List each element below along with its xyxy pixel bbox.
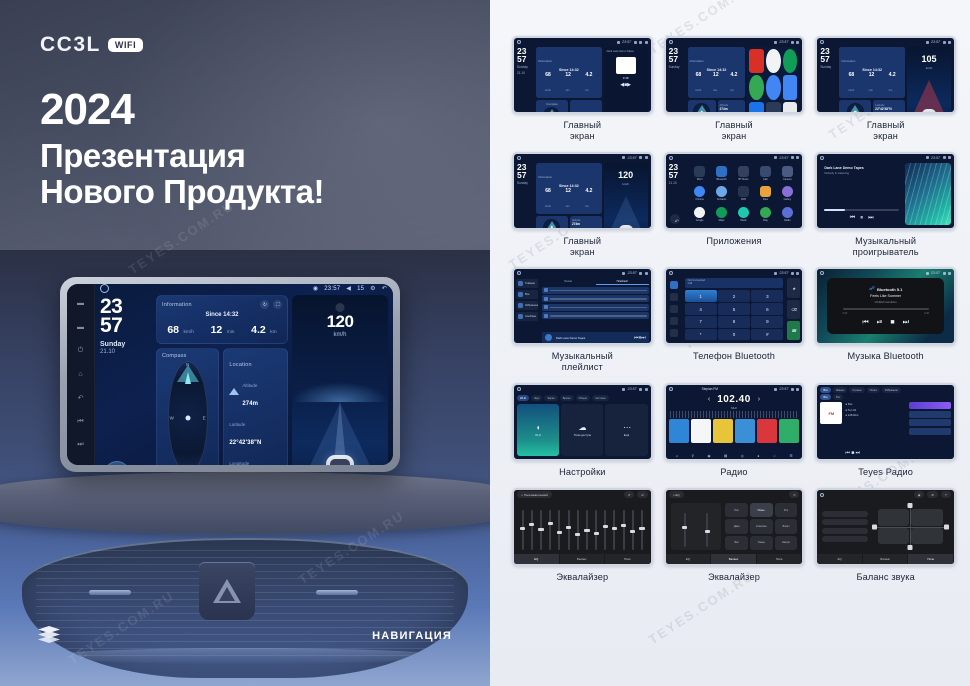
settings-card-hotspot[interactable]: ☁ Точка доступа <box>561 404 603 456</box>
sidebar-item-main[interactable]: Главная <box>516 279 538 288</box>
mini-day: Sunday <box>669 65 686 69</box>
band-fader[interactable] <box>568 510 570 550</box>
balance-pad[interactable] <box>872 503 949 550</box>
band-fader[interactable] <box>632 510 634 550</box>
tab-genres[interactable]: Жанры <box>833 387 848 393</box>
preset-bass[interactable]: Бас <box>725 536 748 550</box>
tab-countries[interactable]: Страны <box>849 387 864 393</box>
app-icon-play[interactable] <box>749 102 764 114</box>
balance-presets[interactable] <box>822 503 868 550</box>
app-tile-maps[interactable]: Maps <box>712 204 732 223</box>
preset-2[interactable] <box>691 419 712 443</box>
mini-screen: Все Жанры Страны Поиск Избранное Все Топ… <box>817 385 954 459</box>
stat-value: 68 <box>849 73 855 78</box>
thumbnail-caption: Главный экран <box>563 120 601 142</box>
call-icon[interactable]: ☎ <box>787 321 800 340</box>
toolbar-icons[interactable]: ↺ <box>789 491 799 498</box>
preset-rock[interactable]: Рок <box>775 503 798 517</box>
equalizer-toolbar[interactable]: ♫ Пользовательский ↺ ☑ <box>514 490 651 499</box>
app-tile-camera[interactable]: Camera <box>777 164 797 183</box>
key-3[interactable]: 3 <box>751 290 783 301</box>
app-tile-calculator[interactable]: Calc <box>755 164 775 183</box>
tab-general[interactable]: Общие <box>576 395 591 401</box>
preset-pop[interactable]: Поп <box>725 503 748 517</box>
player-controls[interactable]: ⏮ ⏸ ⏭ <box>824 215 899 222</box>
fader-knob[interactable] <box>584 529 589 532</box>
prev-station-icon[interactable]: ‹ <box>708 396 710 403</box>
fader-knob[interactable] <box>705 530 710 533</box>
refresh-icon[interactable]: ↻ <box>260 300 269 309</box>
equalizer-toolbar[interactable]: ♫ EQ ↺ <box>666 490 803 499</box>
key-0[interactable]: 0 <box>718 329 750 340</box>
volume-down-button[interactable]: ▬ <box>75 299 86 308</box>
app-icon-drawer[interactable] <box>783 102 798 114</box>
app-tile-playstore[interactable]: Play <box>755 204 775 223</box>
gear-icon[interactable]: ⚙ <box>370 285 376 292</box>
gallery-item[interactable]: 23:57 23 57 Sunday <box>512 152 653 258</box>
app-tile-files[interactable]: Files <box>755 184 775 203</box>
app-icon-maps[interactable] <box>783 49 798 73</box>
mini-status-bar: 23:57 <box>666 38 803 46</box>
thumbnail-home-media[interactable]: 23:57 23 57 Sunday 21.10 <box>512 36 653 114</box>
radio-tuner[interactable]: ‹ 102.40 › <box>666 393 803 406</box>
tab-balance[interactable]: Баланс <box>560 554 606 564</box>
thumbnail-playlist[interactable]: 23:57 Главная Все Избранное Альбомы <box>512 267 653 345</box>
home-button[interactable]: ⌂ <box>75 370 86 379</box>
back-arrow-icon <box>948 272 951 275</box>
mini-status-bar: 23:57 <box>666 154 803 162</box>
thumbnail-teyes-radio[interactable]: Все Жанры Страны Поиск Избранное Все Топ… <box>815 383 956 461</box>
fav-icon[interactable]: ☆ <box>773 454 776 458</box>
gallery-item[interactable]: ♫ EQ ↺ Поп Польз. Рок <box>664 488 805 583</box>
dialer-sidebar[interactable] <box>668 277 681 341</box>
tab-display[interactable]: Экран <box>544 395 557 401</box>
fader-knob[interactable] <box>520 527 525 530</box>
dial-pad[interactable]: 1 2 3 4 5 6 7 8 9 * <box>685 290 784 340</box>
tab-field[interactable]: Поле <box>605 554 651 564</box>
band-fader[interactable] <box>595 510 597 550</box>
progress-bar[interactable] <box>824 209 899 211</box>
tab-eq[interactable]: EQ <box>817 554 863 564</box>
key-2[interactable]: 2 <box>718 290 750 301</box>
pad-axis-vertical <box>910 503 911 550</box>
navigation-fab-button[interactable] <box>104 461 130 465</box>
app-icon-files[interactable] <box>766 102 781 114</box>
rds-icon[interactable]: ◎ <box>741 454 744 458</box>
app-tile-btmusic[interactable]: BT Music <box>734 164 754 183</box>
stat-value: 68 <box>696 73 702 78</box>
key-4[interactable]: 4 <box>685 303 717 314</box>
app-tile-google[interactable]: Google <box>690 204 710 223</box>
search-icon[interactable]: ⚲ <box>691 454 694 458</box>
band-fader[interactable] <box>623 510 625 550</box>
recents-icon[interactable] <box>670 293 678 301</box>
album-art: FM <box>820 402 842 424</box>
preset-rear[interactable] <box>822 528 868 534</box>
tab-eq[interactable]: EQ <box>514 554 560 564</box>
list-item[interactable] <box>909 411 951 418</box>
media-controls[interactable]: ◀■▶ <box>620 82 631 88</box>
thumbnail-player[interactable]: 23:57 Dark Lane Demo Tapes Nobody Is Lis… <box>815 152 956 230</box>
band-fader[interactable] <box>684 513 686 547</box>
tab-balance[interactable]: Баланс <box>863 554 909 564</box>
expand-icon[interactable]: ⛶ <box>273 300 282 309</box>
key-8[interactable]: 8 <box>718 316 750 327</box>
next-icon[interactable]: ⏭ <box>903 319 909 327</box>
home-icon[interactable] <box>820 493 824 497</box>
list-item[interactable] <box>542 295 649 302</box>
loc-icon[interactable]: ● <box>757 454 759 458</box>
preset-driver[interactable] <box>822 511 868 517</box>
app-icon-mail[interactable] <box>783 75 798 99</box>
band-fader[interactable] <box>577 510 579 550</box>
previous-icon[interactable]: ⏮ <box>862 319 868 327</box>
playlist-sidebar[interactable]: Главная Все Избранное Альбомы <box>514 277 540 343</box>
back-arrow-icon[interactable]: ↶ <box>941 491 951 498</box>
hazard-light-button[interactable] <box>199 562 255 620</box>
key-6[interactable]: 6 <box>751 303 783 314</box>
mini-status-right: 23:57 <box>774 40 800 44</box>
volume-up-button[interactable]: ▬ <box>75 323 86 332</box>
gallery-item[interactable]: ◉ ⚙ ↶ <box>815 488 956 583</box>
list-item[interactable] <box>542 312 649 319</box>
tab-sound[interactable]: Звук <box>531 395 542 401</box>
gallery-item[interactable]: 23:57 Главная Все Избранное Альбомы <box>512 267 653 373</box>
preset-classic[interactable]: Классика <box>750 519 773 533</box>
fader-knob[interactable] <box>594 532 599 535</box>
tab-favorites[interactable]: Избранное <box>882 387 901 393</box>
fader-knob[interactable] <box>575 533 580 536</box>
preset-3[interactable] <box>713 419 734 443</box>
search-icon[interactable] <box>670 305 678 313</box>
back-arrow-icon <box>796 41 799 44</box>
stat-unit: min <box>713 89 717 92</box>
player-controls[interactable]: ⏮ ■ ⏭ <box>845 450 906 456</box>
wifi-icon <box>926 41 929 44</box>
list-item[interactable] <box>542 304 649 311</box>
teyes-radio-subtabs[interactable]: Все Топ <box>817 394 954 401</box>
thumbnail-dialer[interactable]: 23:57 <box>664 267 805 345</box>
gallery-item[interactable]: 23:57 <box>664 267 805 373</box>
fader-knob[interactable] <box>612 527 617 530</box>
preset-grid[interactable]: Поп Польз. Рок Джаз Классика Вокал Бас Т… <box>725 503 797 550</box>
speaker-front-left[interactable] <box>878 509 910 526</box>
gallery-item[interactable]: 23:57 Wi-Fi Звук Экран Время Общие Систе… <box>512 383 653 478</box>
speaker-rear-left[interactable] <box>878 528 910 545</box>
now-playing-bar[interactable]: Dark Lane Demo Tapes ⏮⏸⏭ <box>542 332 649 343</box>
home-icon <box>669 271 673 275</box>
mini-status-right: 23:57 <box>774 387 800 391</box>
band-fader[interactable] <box>558 510 560 550</box>
player-controls[interactable]: ⏮⏸⏭ <box>634 335 646 341</box>
frequency-scale[interactable] <box>670 411 799 418</box>
radio-toolbar[interactable]: ♫ ⚲ ◉ ▤ ◎ ● ☆ ☰ <box>666 452 803 459</box>
thumbnail-radio[interactable]: Stepian FM 23:57 ‹ 102.40 › <box>664 383 805 461</box>
key-5[interactable]: 5 <box>718 303 750 314</box>
tab-field[interactable]: Поле <box>908 554 954 564</box>
back-button[interactable]: ↶ <box>670 214 680 224</box>
sidebar-label: Избранное <box>525 304 538 307</box>
preset-6[interactable] <box>779 419 800 443</box>
list-item[interactable] <box>542 287 649 294</box>
thumbnail-equalizer-presets[interactable]: ♫ EQ ↺ Поп Польз. Рок <box>664 488 805 566</box>
pad-knob-right[interactable] <box>944 524 949 529</box>
next-icon[interactable]: ⏭ <box>868 215 873 222</box>
settings-tabs[interactable]: Wi-Fi Звук Экран Время Общие Система <box>514 393 651 403</box>
balance-bottom-tabs[interactable]: EQ Баланс Поле <box>817 554 954 564</box>
reset-icon[interactable]: ↺ <box>789 491 799 498</box>
play-pause-icon[interactable]: ⏯ <box>877 319 883 327</box>
gear-icon <box>639 41 642 44</box>
gallery-item[interactable]: 23:57 23 57 Sunday 21.10 <box>512 36 653 142</box>
stat-unit: km <box>585 205 588 208</box>
preset-country[interactable]: Кантри <box>775 536 798 550</box>
gear-icon <box>639 156 642 159</box>
caption-line1: Главный <box>563 236 601 246</box>
app-tile-gallery[interactable]: Gallery <box>777 184 797 203</box>
teyes-radio-tabs[interactable]: Все Жанры Страны Поиск Избранное <box>817 385 954 394</box>
band-fader[interactable] <box>549 510 551 550</box>
player-controls[interactable]: ⏮ ⏯ ■ ⏭ <box>862 319 908 327</box>
settings-card-wifi[interactable]: ◖ Wi-Fi <box>517 404 559 456</box>
fader-knob[interactable] <box>566 526 571 529</box>
list-icon <box>518 281 523 286</box>
fader-knob[interactable] <box>682 526 687 529</box>
thumbnail-balance[interactable]: ◉ ⚙ ↶ <box>815 488 956 566</box>
previous-icon[interactable]: ⏮ <box>850 215 855 222</box>
station-list[interactable] <box>909 402 951 456</box>
preset-dance[interactable]: Танцы <box>750 536 773 550</box>
information-title: Information <box>538 175 552 179</box>
teyes-radio-body: FM ● Рок ● Топ 10 ● 128 kb/s ⏮ ■ ⏭ <box>817 401 954 459</box>
app-icon-chrome[interactable] <box>766 75 781 99</box>
band-icon[interactable]: ♫ <box>675 454 678 458</box>
star-icon[interactable]: ★ <box>787 278 800 297</box>
thumbnail-settings[interactable]: 23:57 Wi-Fi Звук Экран Время Общие Систе… <box>512 383 653 461</box>
tab-all[interactable]: Все <box>820 387 830 393</box>
home-icon <box>820 156 824 160</box>
settings-icon[interactable] <box>670 329 678 337</box>
gallery-item[interactable]: 23:57 Dark Lane Demo Tapes Nobody Is Lis… <box>815 152 956 258</box>
thumbnail-apps[interactable]: 23:57 23 57 21.10 ↶ <box>664 152 805 230</box>
save-icon[interactable]: ☑ <box>637 491 648 498</box>
gallery-item[interactable]: 23:57 23 57 21.10 ↶ <box>664 152 805 258</box>
app-tile-contacts[interactable]: Contacts <box>712 184 732 203</box>
balance-toolbar[interactable]: ◉ ⚙ ↶ <box>817 490 954 499</box>
stat-value: 68 <box>167 324 179 336</box>
sidebar-item-all[interactable]: Все <box>516 290 538 299</box>
mini-status-bar: Stepian FM 23:57 <box>666 385 803 393</box>
thumbnail-home-apps[interactable]: 23:57 23 57 Sunday <box>664 36 805 114</box>
information-card: Information Since 14:32 68km/h 12min 4.2… <box>839 47 905 98</box>
settings-cards[interactable]: ◖ Wi-Fi ☁ Точка доступа ⋯ Ещё <box>514 403 651 459</box>
preset-jazz[interactable]: Джаз <box>725 519 748 533</box>
list-item[interactable] <box>909 419 951 426</box>
band-fader[interactable] <box>531 510 533 550</box>
pad-knob-bottom[interactable] <box>908 545 913 550</box>
tab-eq[interactable]: EQ <box>666 554 712 564</box>
tab-field[interactable]: Поле <box>757 554 803 564</box>
gear-icon[interactable]: ⚙ <box>927 491 938 498</box>
equalizer-bottom-tabs[interactable]: EQ Баланс Поле <box>514 554 651 564</box>
radio-presets[interactable] <box>666 419 803 443</box>
band-fader[interactable] <box>586 510 588 550</box>
contacts-icon[interactable] <box>670 317 678 325</box>
preset-all[interactable] <box>822 536 868 542</box>
eq-icon[interactable]: ▤ <box>724 454 727 458</box>
fader-knob[interactable] <box>621 524 626 527</box>
stereo-icon[interactable]: ◉ <box>707 454 710 458</box>
app-icon-youtube[interactable] <box>749 49 764 73</box>
mini-day: Sunday <box>517 65 534 69</box>
back-arrow-icon <box>796 156 799 159</box>
fader-knob[interactable] <box>630 530 635 533</box>
app-icon-chrome <box>694 186 705 197</box>
widgets-column: Information ↻ ⛶ Since 14:32 68 <box>156 295 288 465</box>
mini-status-bar: 23:57 <box>514 38 651 46</box>
toolbar-icons[interactable]: ◉ ⚙ ↶ <box>914 491 951 498</box>
preset-vocal[interactable]: Вокал <box>775 519 798 533</box>
preset-1[interactable] <box>669 419 690 443</box>
fader-knob[interactable] <box>639 527 644 530</box>
gallery-item[interactable]: Все Жанры Страны Поиск Избранное Все Топ… <box>815 383 956 478</box>
dialer-actions[interactable]: ★ ⌫ ☎ <box>787 277 800 341</box>
tab-time[interactable]: Время <box>560 395 574 401</box>
sidebar-item-albums[interactable]: Альбомы <box>516 312 538 321</box>
app-tile-music[interactable]: Music <box>734 204 754 223</box>
key-7[interactable]: 7 <box>685 316 717 327</box>
stat-unit: min <box>565 205 569 208</box>
preset-custom[interactable]: Польз. <box>750 503 773 517</box>
subtab-top[interactable]: Топ <box>833 394 843 400</box>
power-button[interactable]: ⏻ <box>75 346 86 355</box>
list-item[interactable] <box>909 402 951 409</box>
tab-system[interactable]: Система <box>592 395 608 401</box>
drive-view-panel[interactable]: 120 km/h <box>292 295 388 465</box>
next-track-button[interactable]: ⏭ <box>75 441 86 450</box>
reset-icon[interactable]: ↺ <box>624 491 634 498</box>
app-icon-gallery <box>782 186 793 197</box>
tab-wifi[interactable]: Wi-Fi <box>517 395 529 401</box>
app-tile-bluetooth[interactable]: Bluetooth <box>712 164 732 183</box>
fader-knob[interactable] <box>538 528 543 531</box>
subtab-all[interactable]: Все <box>820 394 830 400</box>
equalizer-bands[interactable] <box>514 499 651 554</box>
hardware-button-rail[interactable]: ▬ ▬ ⏻ ⌂ ↶ ⏮ ⏭ <box>67 284 95 465</box>
preset-4[interactable] <box>735 419 756 443</box>
preset-5[interactable] <box>757 419 778 443</box>
keypad-icon[interactable] <box>670 281 678 289</box>
tab-songs[interactable]: Песни <box>542 279 594 285</box>
head-unit-screen[interactable]: ◉ 23:57 ◀ 15 ⚙ ↶ 23 57 Sunday <box>95 284 393 465</box>
thumbnail-home-drive-red[interactable]: 23:57 23 57 Sunday <box>815 36 956 114</box>
band-fader[interactable] <box>540 510 542 550</box>
wifi-icon <box>926 156 929 159</box>
key-star[interactable]: * <box>685 329 717 340</box>
key-hash[interactable]: # <box>751 329 783 340</box>
sidebar-label: Главная <box>525 282 535 285</box>
gallery-item[interactable]: Stepian FM 23:57 ‹ 102.40 › <box>664 383 805 478</box>
fader-knob[interactable] <box>529 523 534 526</box>
compass-dial: N E S W <box>168 361 208 465</box>
band-fader[interactable] <box>613 510 615 550</box>
stop-icon[interactable]: ■ <box>890 319 894 327</box>
list-icon[interactable]: ☰ <box>789 454 792 458</box>
band-fader[interactable] <box>522 510 524 550</box>
app-drawer-grid[interactable]: Wi-Fi Bluetooth BT Music Calc Camera Chr… <box>688 163 800 225</box>
next-station-icon[interactable]: › <box>758 396 760 403</box>
settings-card-more[interactable]: ⋯ Ещё <box>605 404 647 456</box>
list-item[interactable] <box>909 428 951 435</box>
preset-selector[interactable]: ♫ EQ <box>669 491 684 498</box>
back-button[interactable]: ↶ <box>75 394 86 403</box>
band-fader[interactable] <box>604 510 606 550</box>
home-icon <box>669 387 673 391</box>
key-1[interactable]: 1 <box>685 290 717 301</box>
equalizer-bottom-tabs[interactable]: EQ Баланс Поле <box>666 554 803 564</box>
band-fader[interactable] <box>641 510 643 550</box>
tab-search[interactable]: Поиск <box>867 387 880 393</box>
information-actions[interactable]: ↻ ⛶ <box>260 300 282 309</box>
track-icon <box>544 305 548 309</box>
app-tile-chrome[interactable]: Chrome <box>690 184 710 203</box>
tab-playlist[interactable]: Плейлист <box>596 279 648 285</box>
preset-front[interactable] <box>822 519 868 525</box>
thumbnail-caption: Настройки <box>559 467 605 478</box>
location-card: Location Altitude 274m Latitude 22°42'38… <box>570 100 602 114</box>
speaker-rear-right[interactable] <box>911 528 943 545</box>
prev-track-button[interactable]: ⏮ <box>75 417 86 426</box>
app-tile-radio[interactable]: Radio <box>777 204 797 223</box>
pad-knob-top[interactable] <box>908 503 913 508</box>
stat-unit: min <box>227 330 235 335</box>
location-card[interactable]: Location Altitude 274m <box>223 348 288 465</box>
toolbar-icons[interactable]: ↺ ☑ <box>624 491 648 498</box>
playlist-tabs[interactable]: Песни Плейлист <box>542 279 649 285</box>
back-arrow-icon[interactable]: ↶ <box>382 285 387 292</box>
fader-knob[interactable] <box>557 531 562 534</box>
thumbnail-equalizer-bands[interactable]: ♫ Пользовательский ↺ ☑ <box>512 488 653 566</box>
app-tile-dvr[interactable]: DVR <box>734 184 754 203</box>
app-tile-wifi[interactable]: Wi-Fi <box>690 164 710 183</box>
fader-knob[interactable] <box>548 522 553 525</box>
pause-icon[interactable]: ⏸ <box>860 215 863 222</box>
information-card[interactable]: Information ↻ ⛶ Since 14:32 68 <box>156 295 288 344</box>
preset-selector[interactable]: ♫ Пользовательский <box>517 491 552 498</box>
band-fader[interactable] <box>706 513 708 547</box>
home-icon[interactable] <box>100 284 109 293</box>
app-icon-phone[interactable] <box>749 75 764 99</box>
gallery-item[interactable]: 23:57 23 57 Sunday <box>664 36 805 142</box>
gallery-item[interactable]: ♫ Пользовательский ↺ ☑ <box>512 488 653 583</box>
pad-knob-left[interactable] <box>872 524 877 529</box>
stat-value: 4.2 <box>889 73 896 78</box>
gallery-item[interactable]: 23:57 23 57 Sunday <box>815 36 956 142</box>
app-icon-assistant[interactable] <box>766 49 781 73</box>
tab-balance[interactable]: Баланс <box>711 554 757 564</box>
key-9[interactable]: 9 <box>751 316 783 327</box>
thumbnail-home-drive[interactable]: 23:57 23 57 Sunday <box>512 152 653 230</box>
sidebar-item-favorites[interactable]: Избранное <box>516 301 538 310</box>
backspace-icon[interactable]: ⌫ <box>787 300 800 319</box>
progress-bar[interactable] <box>843 308 929 309</box>
speaker-front-right[interactable] <box>911 509 943 526</box>
thumbnail-btmusic[interactable]: 23:57 ☍ Bluetooth 5.1 Feels Like Summer <box>815 267 956 345</box>
equalizer-bands[interactable] <box>671 503 722 550</box>
fader-knob[interactable] <box>603 525 608 528</box>
gallery-item[interactable]: 23:57 ☍ Bluetooth 5.1 Feels Like Summer <box>815 267 956 373</box>
compass-card[interactable]: Compass N E S W <box>156 348 219 465</box>
